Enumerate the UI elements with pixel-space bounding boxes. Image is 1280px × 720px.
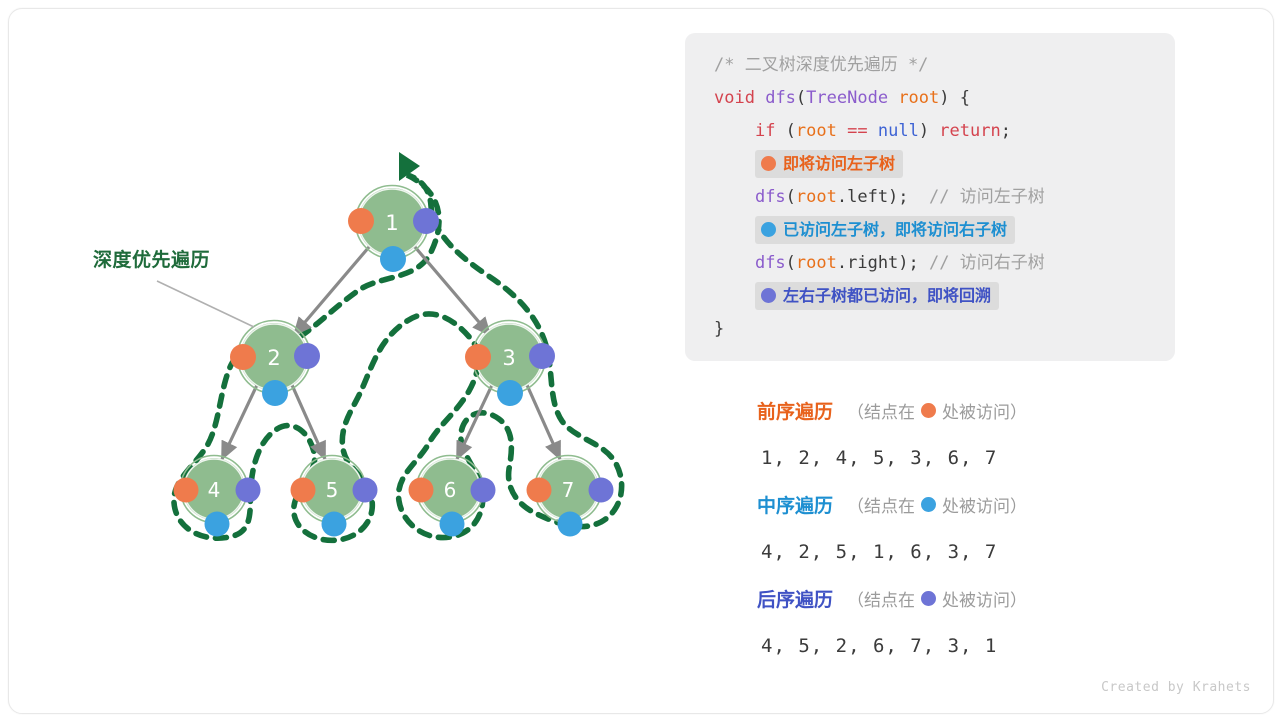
code-line-highlight-inorder: 已访问左子树，即将访问右子树 [685, 214, 1175, 247]
postorder-note: （结点在 处被访问） [847, 586, 1027, 611]
svg-text:4: 4 [208, 478, 221, 502]
preorder-note-suffix: 处被访问） [942, 398, 1027, 423]
binary-tree-diagram: 1 2 [9, 9, 679, 713]
inorder-dot-icon [558, 512, 583, 537]
postorder-heading: 后序遍历 （结点在 处被访问） [685, 575, 1205, 622]
postorder-label: 后序遍历 [757, 585, 833, 612]
code-token-null: null [878, 121, 919, 141]
code-token-root4: root [796, 253, 837, 273]
code-token-paren2: ( [775, 121, 795, 141]
figure-card: 1 2 [8, 8, 1274, 714]
inorder-note-suffix: 处被访问） [942, 492, 1027, 517]
code-line-signature: void dfs(TreeNode root) { [685, 82, 1175, 115]
code-line-closebrace: } [685, 313, 1175, 346]
edge-2-5 [292, 385, 325, 459]
code-line-highlight-postorder: 左右子树都已访问，即将回溯 [685, 280, 1175, 313]
code-line-comment: /* 二叉树深度优先遍历 */ [685, 49, 1175, 82]
preorder-note: （结点在 处被访问） [847, 398, 1027, 423]
postorder-note-suffix: 处被访问） [942, 586, 1027, 611]
postorder-note-prefix: （结点在 [847, 586, 915, 611]
inorder-dot-icon [440, 512, 465, 537]
code-line-dfs-left: dfs(root.left); // 访问左子树 [685, 181, 1175, 214]
label-leader-line [157, 281, 254, 327]
code-token-right: .right); [837, 253, 929, 273]
credit-text: Created by Krahets [1101, 680, 1251, 695]
tree-nodes: 1 2 [174, 186, 614, 537]
code-token-left: .left); [837, 187, 909, 207]
inorder-dot-icon [322, 512, 347, 537]
code-token-treenode: TreeNode [806, 88, 888, 108]
dfs-label: 深度优先遍历 [93, 245, 210, 272]
code-token-closeparen: ) [919, 121, 939, 141]
preorder-sequence: 1, 2, 4, 5, 3, 6, 7 [685, 434, 1205, 481]
code-token-indent3 [714, 253, 755, 273]
postorder-dot-icon [471, 478, 496, 503]
code-token-indent [714, 121, 755, 141]
inorder-dot-icon [262, 380, 288, 406]
code-token-dfs3: dfs [755, 253, 786, 273]
preorder-note-prefix: （结点在 [847, 398, 915, 423]
preorder-dot-icon [174, 478, 199, 503]
code-token-semicolon: ; [1001, 121, 1011, 141]
preorder-dot-icon [409, 478, 434, 503]
postorder-dot-icon [589, 478, 614, 503]
postorder-dot-icon [921, 591, 936, 606]
code-token-indent2 [714, 187, 755, 207]
postorder-dot-icon [413, 208, 439, 234]
svg-text:7: 7 [562, 478, 575, 502]
code-token-paren4: ( [786, 253, 796, 273]
inorder-label: 中序遍历 [757, 491, 833, 518]
code-token-root: root [898, 88, 939, 108]
traversal-results: 前序遍历 （结点在 处被访问） 1, 2, 4, 5, 3, 6, 7 中序遍历… [685, 387, 1205, 669]
preorder-dot-icon [230, 344, 256, 370]
code-comment-header: /* 二叉树深度优先遍历 */ [714, 55, 928, 75]
tree-svg: 1 2 [9, 9, 679, 713]
edge-2-4 [222, 385, 257, 459]
code-comment-right: // 访问右子树 [929, 253, 1045, 273]
code-token-space4 [868, 121, 878, 141]
code-token-eq: == [847, 121, 867, 141]
inorder-dot-icon [380, 246, 406, 272]
highlight-inorder-text: 已访问左子树，即将访问右子树 [783, 220, 1007, 239]
svg-text:1: 1 [385, 211, 398, 235]
code-panel: /* 二叉树深度优先遍历 */ void dfs(TreeNode root) … [685, 33, 1175, 361]
edge-1-2 [294, 247, 369, 335]
code-line-nullcheck: if (root == null) return; [685, 115, 1175, 148]
code-token-root3: root [796, 187, 837, 207]
tree-node-6[interactable]: 6 [409, 456, 496, 537]
svg-text:6: 6 [444, 478, 457, 502]
postorder-sequence: 4, 5, 2, 6, 7, 3, 1 [685, 622, 1205, 669]
preorder-dot-icon [465, 344, 491, 370]
code-token-return: return [939, 121, 1000, 141]
postorder-dot-icon [761, 288, 776, 303]
preorder-dot-icon [527, 478, 552, 503]
code-token-if: if [755, 121, 775, 141]
postorder-dot-icon [529, 343, 555, 369]
preorder-dot-icon [921, 403, 936, 418]
code-comment-left: // 访问左子树 [909, 187, 1045, 207]
svg-text:5: 5 [326, 478, 339, 502]
code-token-space [755, 88, 765, 108]
preorder-heading: 前序遍历 （结点在 处被访问） [685, 387, 1205, 434]
preorder-dot-icon [291, 478, 316, 503]
highlight-postorder: 左右子树都已访问，即将回溯 [755, 282, 999, 310]
preorder-label: 前序遍历 [757, 397, 833, 424]
code-token-dfs2: dfs [755, 187, 786, 207]
highlight-postorder-text: 左右子树都已访问，即将回溯 [783, 286, 991, 305]
postorder-dot-icon [353, 478, 378, 503]
inorder-dot-icon [497, 380, 523, 406]
svg-text:3: 3 [502, 346, 515, 370]
code-line-dfs-right: dfs(root.right); // 访问右子树 [685, 247, 1175, 280]
inorder-note-prefix: （结点在 [847, 492, 915, 517]
preorder-dot-icon [761, 156, 776, 171]
code-token-void: void [714, 88, 755, 108]
code-token-brace: ) { [939, 88, 970, 108]
preorder-dot-icon [348, 208, 374, 234]
code-line-highlight-preorder: 即将访问左子树 [685, 148, 1175, 181]
postorder-dot-icon [236, 478, 261, 503]
inorder-heading: 中序遍历 （结点在 处被访问） [685, 481, 1205, 528]
code-token-dfs: dfs [765, 88, 796, 108]
code-token-root2: root [796, 121, 837, 141]
highlight-preorder-text: 即将访问左子树 [783, 154, 895, 173]
code-token-closebrace: } [714, 319, 724, 339]
highlight-preorder: 即将访问左子树 [755, 150, 903, 178]
inorder-note: （结点在 处被访问） [847, 492, 1027, 517]
code-token-paren: ( [796, 88, 806, 108]
inorder-sequence: 4, 2, 5, 1, 6, 3, 7 [685, 528, 1205, 575]
code-token-paren3: ( [786, 187, 796, 207]
code-token-space3 [837, 121, 847, 141]
postorder-dot-icon [294, 343, 320, 369]
highlight-inorder: 已访问左子树，即将访问右子树 [755, 216, 1015, 244]
code-token-space2 [888, 88, 898, 108]
inorder-dot-icon [761, 222, 776, 237]
svg-text:2: 2 [267, 346, 280, 370]
inorder-dot-icon [921, 497, 936, 512]
inorder-dot-icon [205, 512, 230, 537]
